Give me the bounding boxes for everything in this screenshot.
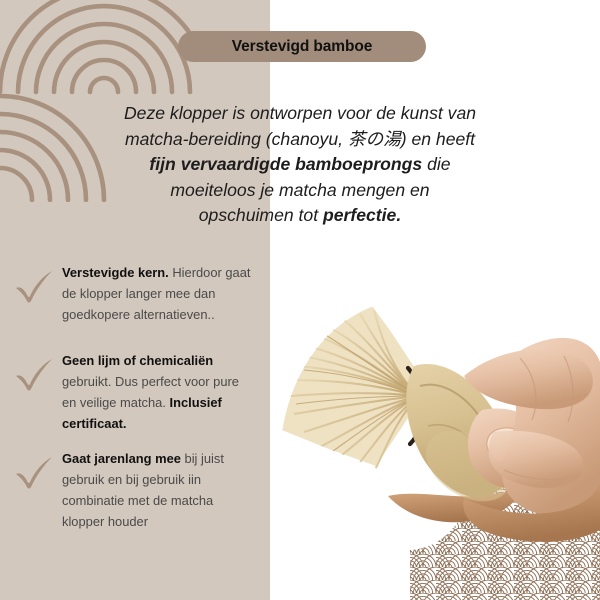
title-badge: Verstevigd bamboe (178, 31, 426, 62)
intro-line-3-tail: die (422, 154, 450, 174)
intro-line-2: matcha-bereiding (chanoyu, 茶の湯) en heeft (125, 129, 475, 149)
intro-line-3-bold: fijn vervaardigde bamboeprongs (149, 154, 422, 174)
list-item-lead: Gaat jarenlang mee (62, 451, 181, 466)
infographic-canvas: Verstevigd bamboe Deze klopper is ontwor… (0, 0, 600, 600)
list-item-text: Geen lijm of chemicaliën gebruikt. Dus p… (62, 350, 270, 434)
product-photo-whisk-in-hand (268, 300, 600, 552)
page-title: Verstevigd bamboe (232, 38, 372, 56)
list-item: Verstevigde kern. Hierdoor gaat de klopp… (0, 262, 270, 325)
list-item: Gaat jarenlang mee bij juist gebruik en … (0, 448, 270, 532)
intro-line-1: Deze klopper is ontworpen voor de kunst … (124, 103, 476, 123)
list-item-lead: Geen lijm of chemicaliën (62, 353, 213, 368)
list-item-text: Gaat jarenlang mee bij juist gebruik en … (62, 448, 270, 532)
check-icon (0, 350, 62, 392)
list-item: Geen lijm of chemicaliën gebruikt. Dus p… (0, 350, 270, 434)
intro-line-5-bold: perfectie. (323, 205, 401, 225)
list-item-text: Verstevigde kern. Hierdoor gaat de klopp… (62, 262, 270, 325)
intro-line-4: moeiteloos je matcha mengen en (170, 180, 429, 200)
list-item-lead: Verstevigde kern. (62, 265, 169, 280)
check-icon (0, 448, 62, 490)
intro-line-5-head: opschuimen tot (199, 205, 323, 225)
intro-paragraph: Deze klopper is ontworpen voor de kunst … (60, 101, 540, 229)
check-icon (0, 262, 62, 304)
